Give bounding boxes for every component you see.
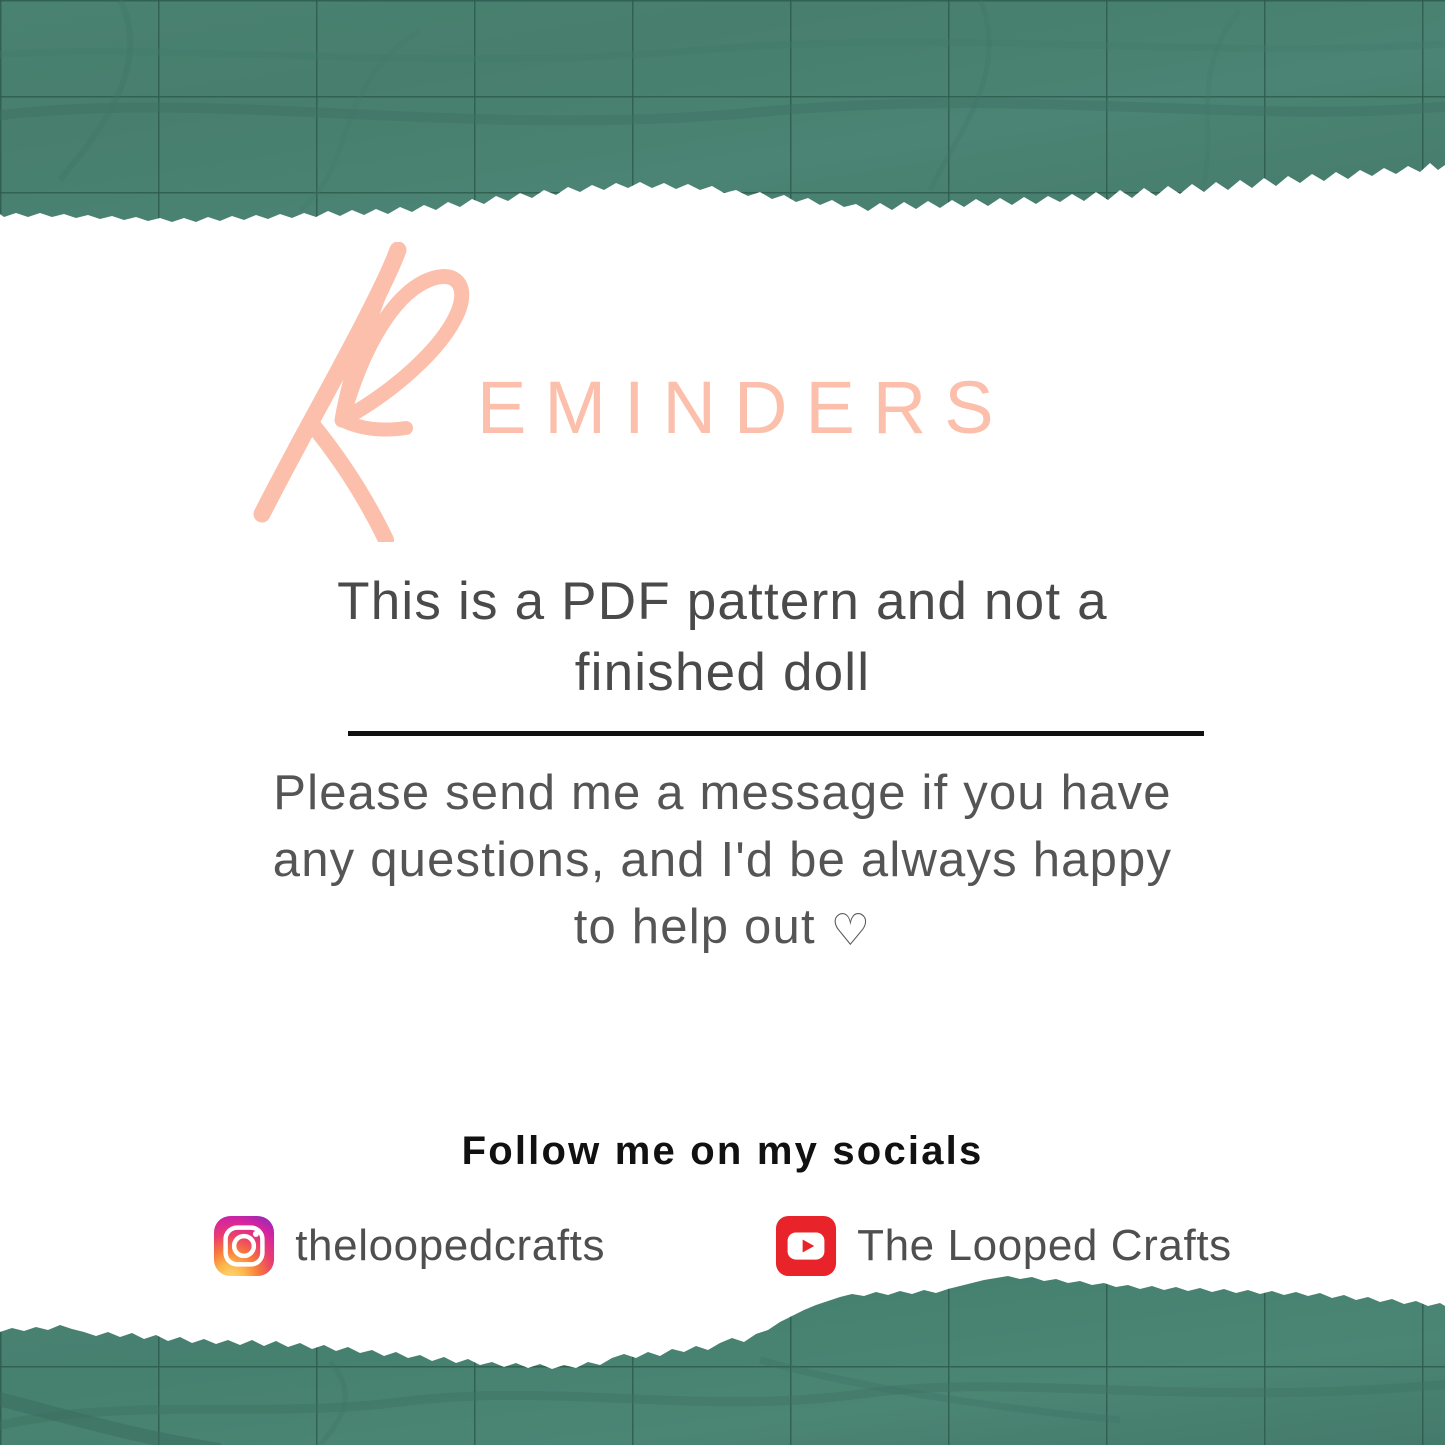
torn-paper-band-top [0, 0, 1445, 230]
contact-message-text: Please send me a message if you have any… [0, 760, 1445, 964]
contact-message-copy: Please send me a message if you have any… [273, 766, 1172, 954]
instagram-icon[interactable] [213, 1215, 275, 1277]
torn-paper-band-bottom [0, 1270, 1445, 1445]
heart-outline-icon: ♡ [831, 906, 872, 955]
decorative-script-r-icon [246, 242, 506, 542]
page-title: EMINDERS [477, 371, 1012, 445]
social-link-youtube[interactable]: The Looped Crafts [775, 1215, 1232, 1277]
instagram-handle[interactable]: theloopedcrafts [295, 1221, 605, 1271]
social-link-instagram[interactable]: theloopedcrafts [213, 1215, 605, 1277]
youtube-channel-name[interactable]: The Looped Crafts [857, 1221, 1232, 1271]
reminders-page: EMINDERS This is a PDF pattern and not a… [0, 0, 1445, 1445]
page-title-block: EMINDERS [0, 238, 1445, 548]
socials-row: theloopedcrafts The Looped Crafts [0, 1215, 1445, 1277]
pdf-disclaimer-text: This is a PDF pattern and not a finished… [0, 566, 1445, 708]
title-divider-rule [348, 731, 1204, 736]
socials-heading: Follow me on my socials [0, 1129, 1445, 1174]
youtube-icon[interactable] [775, 1215, 837, 1277]
